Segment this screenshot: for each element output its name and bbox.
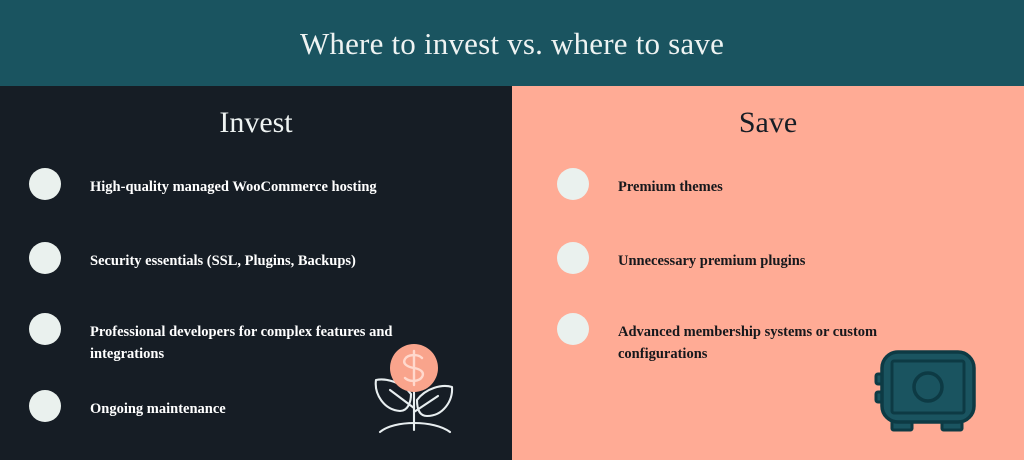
list-item: Security essentials (SSL, Plugins, Backu… <box>29 248 459 274</box>
infographic-root: Where to invest vs. where to save Invest… <box>0 0 1024 460</box>
bullet-dot-icon <box>557 168 589 200</box>
list-item-label: High-quality managed WooCommerce hosting <box>90 174 459 198</box>
safe-vault-icon <box>872 344 982 438</box>
comparison-panels: Invest High-quality managed WooCommerce … <box>0 86 1024 460</box>
list-item-label: Security essentials (SSL, Plugins, Backu… <box>90 248 459 272</box>
bullet-dot-icon <box>557 242 589 274</box>
invest-panel: Invest High-quality managed WooCommerce … <box>0 86 512 460</box>
list-item-label: Premium themes <box>618 174 957 198</box>
list-item: Premium themes <box>557 174 957 200</box>
bullet-dot-icon <box>29 168 61 200</box>
bullet-dot-icon <box>557 313 589 345</box>
money-plant-icon <box>364 342 464 438</box>
save-panel: Save Premium themes Unnecessary premium … <box>512 86 1024 460</box>
save-heading: Save <box>512 108 1024 138</box>
bullet-dot-icon <box>29 313 61 345</box>
page-title: Where to invest vs. where to save <box>300 28 724 59</box>
list-item: High-quality managed WooCommerce hosting <box>29 174 459 200</box>
invest-heading: Invest <box>0 108 512 138</box>
list-item: Unnecessary premium plugins <box>557 248 957 274</box>
bullet-dot-icon <box>29 390 61 422</box>
header-banner: Where to invest vs. where to save <box>0 0 1024 86</box>
bullet-dot-icon <box>29 242 61 274</box>
list-item-label: Unnecessary premium plugins <box>618 248 957 272</box>
